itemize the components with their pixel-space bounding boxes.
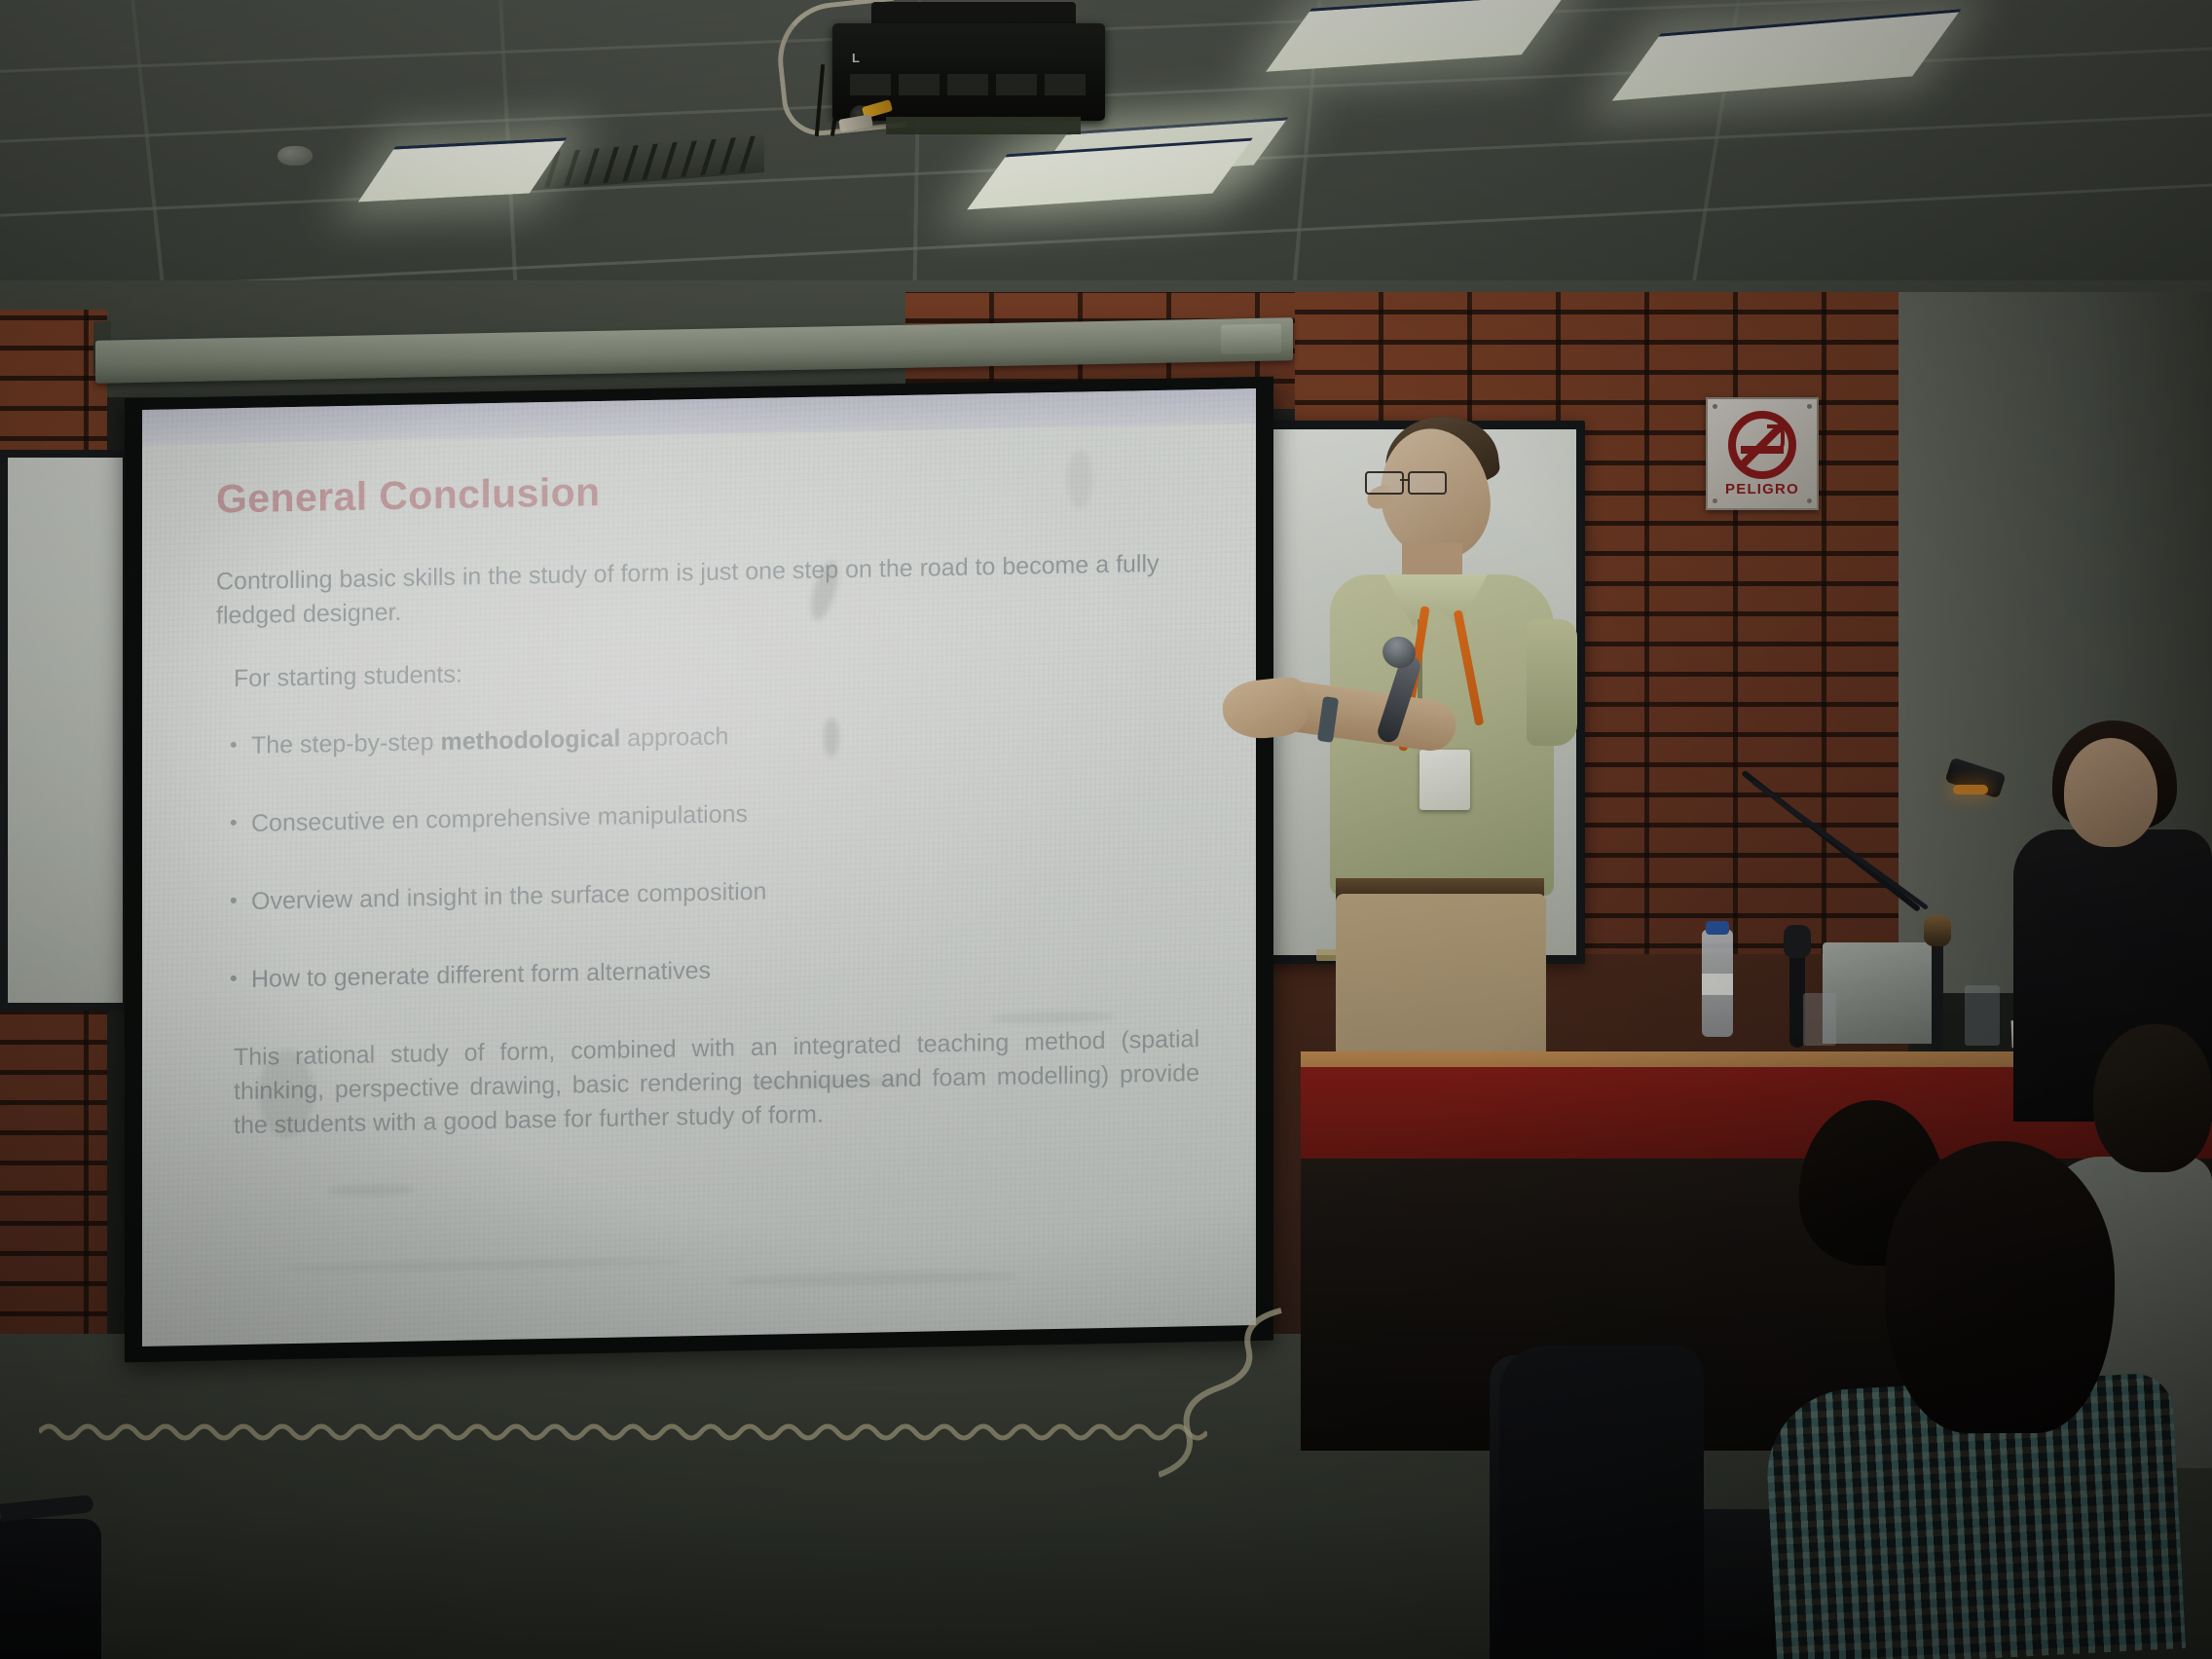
no-smoking-sign: PELIGRO <box>1706 397 1819 510</box>
whiteboard-left <box>0 450 130 1011</box>
presenter-sleeve <box>1527 619 1577 746</box>
screen-housing-endcap <box>1221 323 1281 353</box>
projector-brand-mark: L <box>852 51 861 65</box>
slide-closing-paragraph: This rational study of form, combined wi… <box>234 1022 1199 1143</box>
chair <box>0 1519 101 1659</box>
ceiling-light-panel <box>967 138 1253 210</box>
audience-member <box>1499 1346 1704 1659</box>
slide-bullet-item: Consecutive en comprehensive manipulatio… <box>251 789 1199 840</box>
bullet-text-pre: The step-by-step <box>251 728 441 759</box>
sign-label: PELIGRO <box>1725 481 1799 498</box>
slide-bullet-item: How to generate different form alternati… <box>251 944 1199 996</box>
projector-vent-strip <box>850 74 1088 95</box>
slide-title: General Conclusion <box>216 458 1199 522</box>
glasses-icon <box>1365 471 1458 491</box>
ceiling-light-panel <box>1612 9 1962 100</box>
ceiling-projector: L <box>779 2 1129 138</box>
slide-content: General Conclusion Controlling basic ski… <box>216 458 1199 1143</box>
desk-lamp-bulb-glow <box>1953 785 1988 794</box>
slide-intro-paragraph: Controlling basic skills in the study of… <box>216 546 1199 633</box>
bullet-text-bold: methodological <box>441 725 621 756</box>
desk-microphone-stand <box>1932 937 1943 1051</box>
bullet-text-pre: Consecutive en comprehensive manipulatio… <box>251 800 748 837</box>
laptop <box>1823 942 1932 1044</box>
drinking-glass <box>1803 993 1836 1046</box>
name-badge <box>1419 750 1470 810</box>
audience-member-head <box>1885 1141 2115 1433</box>
desk-microphone-head <box>1924 915 1951 946</box>
smoke-detector-icon <box>277 146 313 166</box>
water-bottle-cap <box>1706 921 1729 935</box>
slide-bullet-item: The step-by-step methodological approach <box>251 711 1199 762</box>
audience-member-head <box>2093 1024 2212 1172</box>
moderator-head <box>2064 738 2157 847</box>
floor-cable <box>39 1417 1207 1442</box>
screen-top-band <box>142 388 1256 445</box>
no-smoking-icon <box>1728 411 1796 479</box>
slide-bullet-list: The step-by-step methodological approach… <box>216 711 1199 996</box>
drinking-glass <box>1965 985 2000 1046</box>
desk-microphone-head <box>1784 925 1811 958</box>
presentation-room-photo: L PELIGRO <box>0 0 2212 1659</box>
projector-ceiling-plate <box>886 117 1081 134</box>
ceiling-light-panel <box>1266 0 1567 72</box>
slide-bullet-item: Overview and insight in the surface comp… <box>251 866 1199 918</box>
bullet-text-post: approach <box>620 722 728 752</box>
bullet-text-pre: How to generate different form alternati… <box>251 957 711 993</box>
slide-subheading: For starting students: <box>234 644 1199 696</box>
bullet-text-pre: Overview and insight in the surface comp… <box>251 878 766 915</box>
water-bottle-label <box>1702 974 1733 995</box>
projection-screen-frame: General Conclusion Controlling basic ski… <box>125 377 1273 1363</box>
projection-screen-surface: General Conclusion Controlling basic ski… <box>142 388 1256 1346</box>
